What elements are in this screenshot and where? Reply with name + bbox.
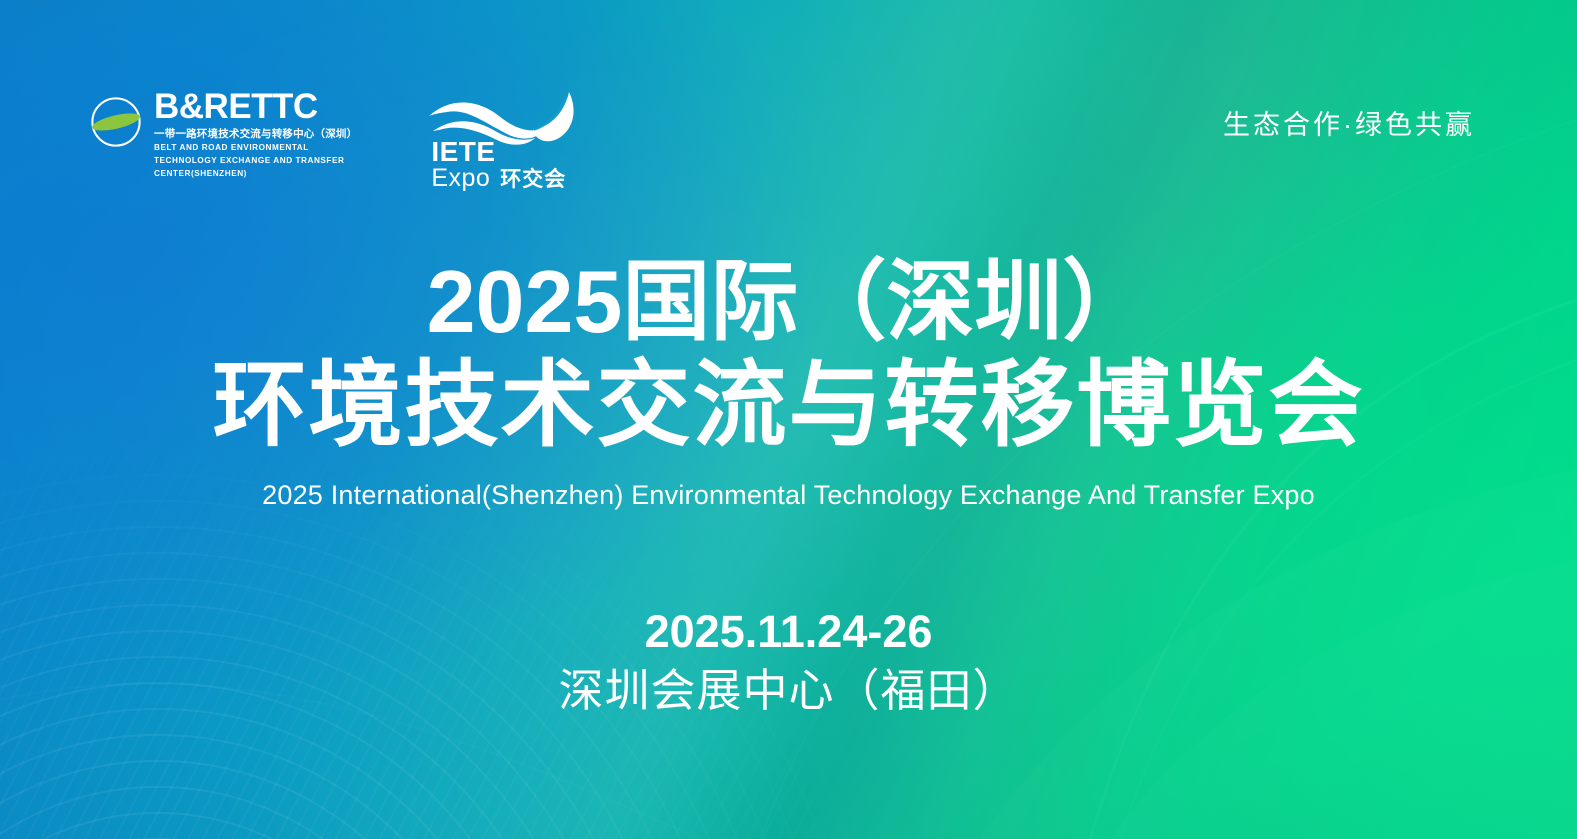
event-venue: 深圳会展中心（福田） [558,664,1018,718]
event-banner: B&RETTC 一带一路环境技术交流与转移中心（深圳） BELT AND ROA… [0,0,1577,839]
brettc-name-en-line-1: BELT AND ROAD ENVIRONMENTAL [154,142,357,154]
title-en: 2025 International(Shenzhen) Environment… [262,480,1315,511]
brettc-name-en-line-2: TECHNOLOGY EXCHANGE AND TRANSFER [154,155,357,167]
event-slogan: 生态合作·绿色共赢 [1223,103,1475,142]
title-cn-line-1: 2025国际（深圳） [427,255,1151,348]
iete-expo-cn: 环交会 [500,169,566,190]
banner-meta-block: 2025.11.24-26 深圳会展中心（福田） [0,605,1577,718]
circle-band-icon [88,94,144,150]
brettc-name-cn: 一带一路环境技术交流与转移中心（深圳） [154,127,357,141]
iete-subtitle-row: Expo 环交会 [431,166,566,191]
brettc-wordmark: B&RETTC [154,90,357,124]
banner-header: B&RETTC 一带一路环境技术交流与转移中心（深圳） BELT AND ROA… [0,0,1577,210]
iete-abbr: IETE [431,138,495,166]
brettc-text-block: B&RETTC 一带一路环境技术交流与转移中心（深圳） BELT AND ROA… [154,90,357,179]
banner-title-block: 2025国际（深圳） 环境技术交流与转移博览会 2025 Internation… [0,255,1577,511]
iete-expo-logo: IETE Expo 环交会 [421,90,581,194]
iete-expo-word: Expo [431,166,490,191]
title-cn-line-2: 环境技术交流与转移博览会 [212,352,1364,457]
brettc-name-en-line-3: CENTER(SHENZHEN) [154,168,357,180]
logo-group: B&RETTC 一带一路环境技术交流与转移中心（深圳） BELT AND ROA… [88,90,581,194]
event-date: 2025.11.24-26 [645,605,933,658]
brettc-logo: B&RETTC 一带一路环境技术交流与转移中心（深圳） BELT AND ROA… [88,90,357,179]
